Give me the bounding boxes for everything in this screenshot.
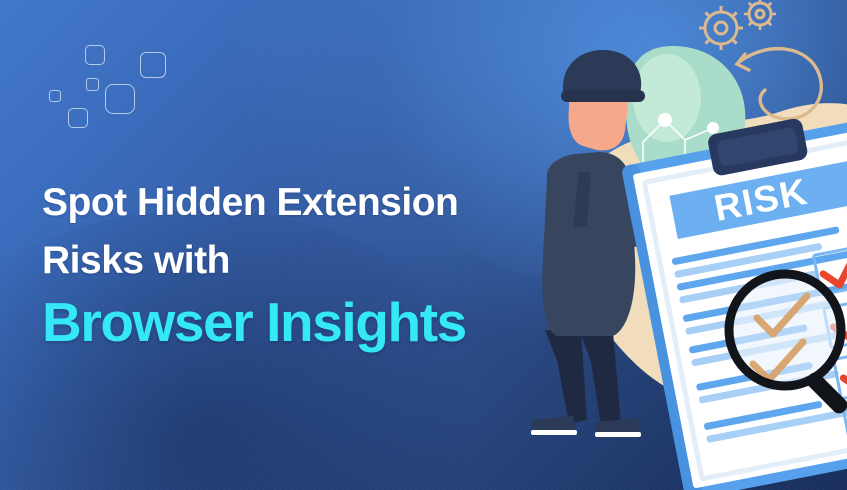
deco-square-3	[49, 90, 61, 102]
deco-square-1	[85, 45, 105, 65]
deco-square-6	[68, 108, 88, 128]
gear-icons	[699, 0, 776, 50]
gear-large	[699, 6, 743, 50]
deco-square-2	[140, 52, 166, 78]
headline-block: Spot Hidden Extension Risks with Browser…	[42, 183, 662, 350]
gear-small	[744, 0, 776, 30]
headline-line-3-accent: Browser Insights	[42, 295, 662, 350]
deco-square-5	[105, 84, 135, 114]
filament-node-2	[707, 122, 719, 134]
person-shoe-back-sole	[531, 430, 577, 435]
person-shoe-front-sole	[595, 432, 641, 437]
filament-node-1	[658, 113, 672, 127]
deco-square-4	[86, 78, 99, 91]
person-cap-brim	[561, 90, 645, 102]
headline-line-1: Spot Hidden Extension	[42, 183, 662, 222]
promo-banner: Spot Hidden Extension Risks with Browser…	[0, 0, 847, 490]
decorative-squares-group	[0, 0, 200, 150]
headline-line-2: Risks with	[42, 241, 662, 280]
